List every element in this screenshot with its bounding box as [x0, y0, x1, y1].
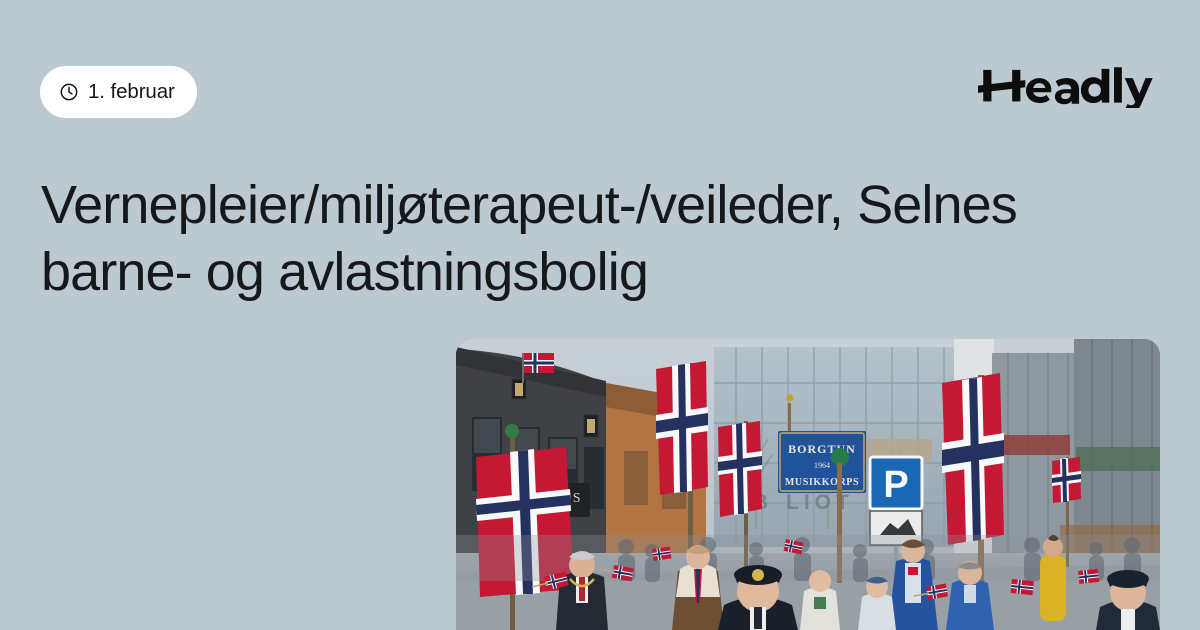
date-badge-label: 1. februar	[88, 82, 175, 103]
article-image: BIB LIOT EK	[456, 339, 1160, 630]
date-badge: 1. februar	[40, 66, 197, 118]
clock-icon	[59, 82, 79, 102]
page-title: Vernepleier/miljøterapeut-/veileder, Sel…	[41, 172, 1041, 306]
poster-canvas: 1. februar Headly Verneplei	[0, 0, 1200, 630]
brand-logo[interactable]: Headly	[978, 62, 1162, 108]
